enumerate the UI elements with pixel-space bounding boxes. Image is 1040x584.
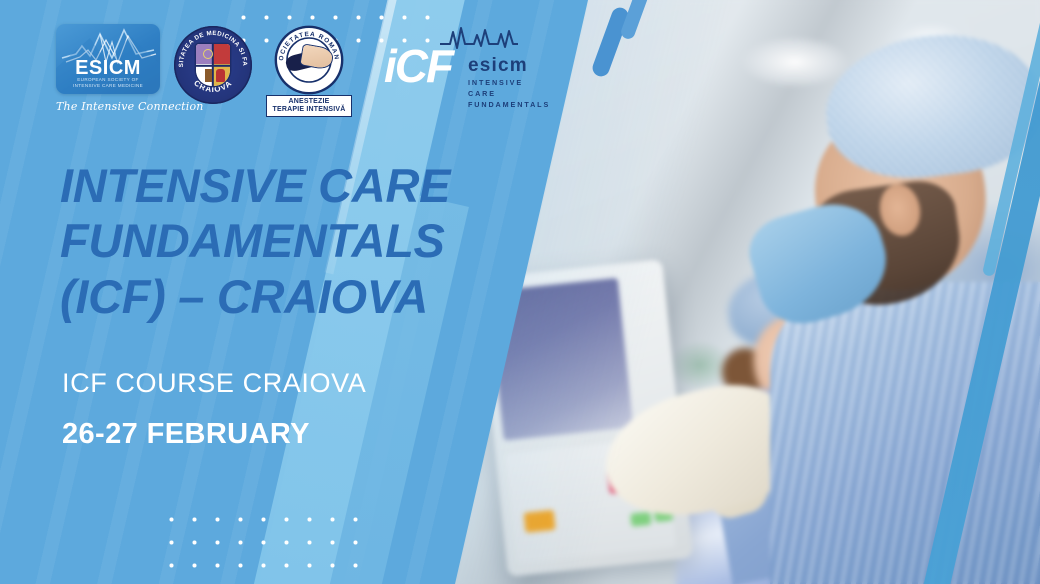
icf-secondary-lockup: esicm INTENSIVE CARE FUNDAMENTALS [468, 56, 550, 110]
icf-tagline-line1: INTENSIVE CARE [468, 78, 523, 98]
umf-horizontal-divider [196, 65, 230, 67]
course-dates: 26-27 FEBRUARY [62, 418, 310, 451]
srati-seal-circle: SOCIETATEA ROMANA [277, 28, 341, 92]
monitor-green-indicator-1 [630, 512, 651, 527]
umf-torch-icon [205, 69, 212, 82]
srati-logo: SOCIETATEA ROMANA ANESTEZIE TERAPIE INTE… [266, 28, 352, 117]
umf-lion-icon [216, 69, 225, 82]
umf-quarter-top-right [213, 44, 230, 66]
icf-esicm-text: esicm [468, 56, 550, 75]
esicm-tagline: The Intensive Connection [56, 100, 160, 113]
srati-name-box: ANESTEZIE TERAPIE INTENSIVĂ [266, 95, 352, 117]
esicm-logo-tile: ESICM EUROPEAN SOCIETY OF INTENSIVE CARE… [56, 24, 160, 94]
srati-box-line1: ANESTEZIE [270, 98, 348, 106]
esicm-subtext-line1: EUROPEAN SOCIETY OF [77, 77, 138, 82]
icf-tagline-line2: FUNDAMENTALS [468, 100, 550, 109]
umf-craiova-logo: UNIVERSITATEA DE MEDICINA SI FARMACIE CR… [174, 26, 252, 104]
icf-wordmark: iCF [384, 44, 452, 88]
esicm-subtext: EUROPEAN SOCIETY OF INTENSIVE CARE MEDIC… [56, 77, 160, 89]
icf-tagline: INTENSIVE CARE FUNDAMENTALS [468, 78, 550, 110]
umf-coat-of-arms [196, 44, 230, 86]
title-line-1: INTENSIVE CARE [60, 158, 490, 213]
poster-canvas: ESICM EUROPEAN SOCIETY OF INTENSIVE CARE… [0, 0, 1040, 584]
srati-hands-icon [286, 47, 332, 75]
esicm-subtext-line2: INTENSIVE CARE MEDICINE [73, 83, 143, 88]
umf-star-icon [203, 49, 213, 59]
course-subtitle: ICF COURSE CRAIOVA [62, 368, 366, 399]
esicm-wordmark: ESICM [56, 58, 160, 78]
title-line-3: (ICF) – CRAIOVA [60, 269, 490, 324]
poster-title: INTENSIVE CARE FUNDAMENTALS (ICF) – CRAI… [60, 158, 490, 324]
monitor-amber-indicator [524, 510, 556, 533]
esicm-logo: ESICM EUROPEAN SOCIETY OF INTENSIVE CARE… [56, 24, 160, 113]
title-line-2: FUNDAMENTALS [60, 213, 490, 268]
icf-wordmark-text: iCF [384, 40, 452, 92]
srati-box-line2: TERAPIE INTENSIVĂ [270, 106, 348, 114]
icf-logo: iCF esicm INTENSIVE CARE FUNDAMENTALS [384, 28, 516, 102]
partner-logo-row: ESICM EUROPEAN SOCIETY OF INTENSIVE CARE… [56, 24, 516, 117]
